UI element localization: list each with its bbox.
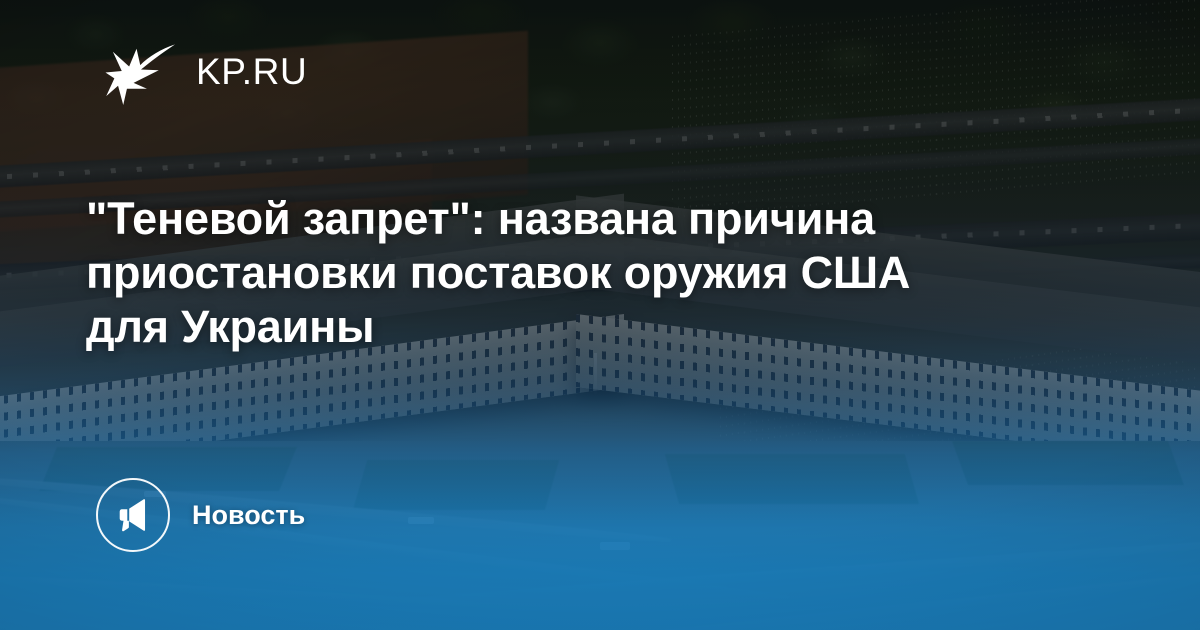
brand-logo[interactable]: KP.RU [104,34,307,108]
badge-label: Новость [192,502,305,529]
megaphone-icon [114,496,152,534]
card-content: KP.RU "Теневой запрет": названа причина … [0,0,1200,630]
swallow-bird-icon [104,34,178,108]
badge-icon-circle [96,478,170,552]
brand-name: KP.RU [196,53,307,90]
news-share-card: KP.RU "Теневой запрет": названа причина … [0,0,1200,630]
page-title: "Теневой запрет": названа причина приост… [86,192,986,354]
status-badge[interactable]: Новость [96,478,305,552]
